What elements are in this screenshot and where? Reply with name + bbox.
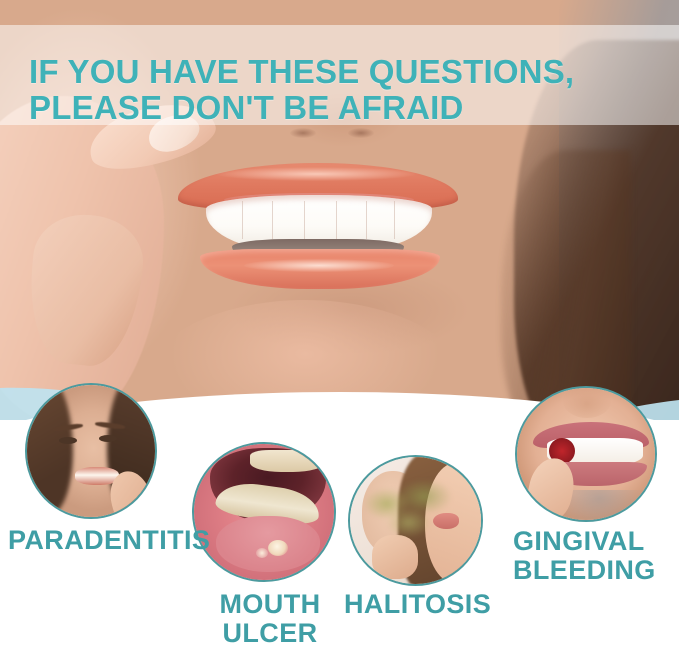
nostril-left: [290, 128, 316, 138]
title-banner: IF YOU HAVE THESE QUESTIONS, PLEASE DON'…: [0, 25, 679, 125]
page-title: IF YOU HAVE THESE QUESTIONS, PLEASE DON'…: [29, 54, 669, 126]
upper-lip-gloss: [216, 167, 416, 181]
dental-symptoms-infographic: close-up photograph of a smiling woman p…: [0, 0, 679, 656]
condition-thumbnail-gingival-bleeding[interactable]: finger pulling lip down to reveal red bl…: [515, 386, 657, 522]
condition-thumbnail-mouth-ulcer[interactable]: open mouth showing a sore on the lower g…: [192, 442, 336, 582]
nostril-right: [348, 128, 374, 138]
condition-thumbnail-paradentitis[interactable]: woman with a pained expression touching …: [25, 383, 157, 519]
lower-lip-gloss: [244, 259, 394, 272]
condition-label-gingival-bleeding: GINGIVAL BLEEDING: [513, 527, 656, 585]
mouth: [178, 155, 458, 285]
condition-label-halitosis: HALITOSIS: [344, 590, 491, 619]
condition-label-paradentitis: PARADENTITIS: [8, 526, 210, 555]
condition-label-mouth-ulcer: MOUTH ULCER: [200, 590, 340, 648]
condition-thumbnail-halitosis[interactable]: woman covering her mouth beside a profil…: [348, 455, 483, 586]
